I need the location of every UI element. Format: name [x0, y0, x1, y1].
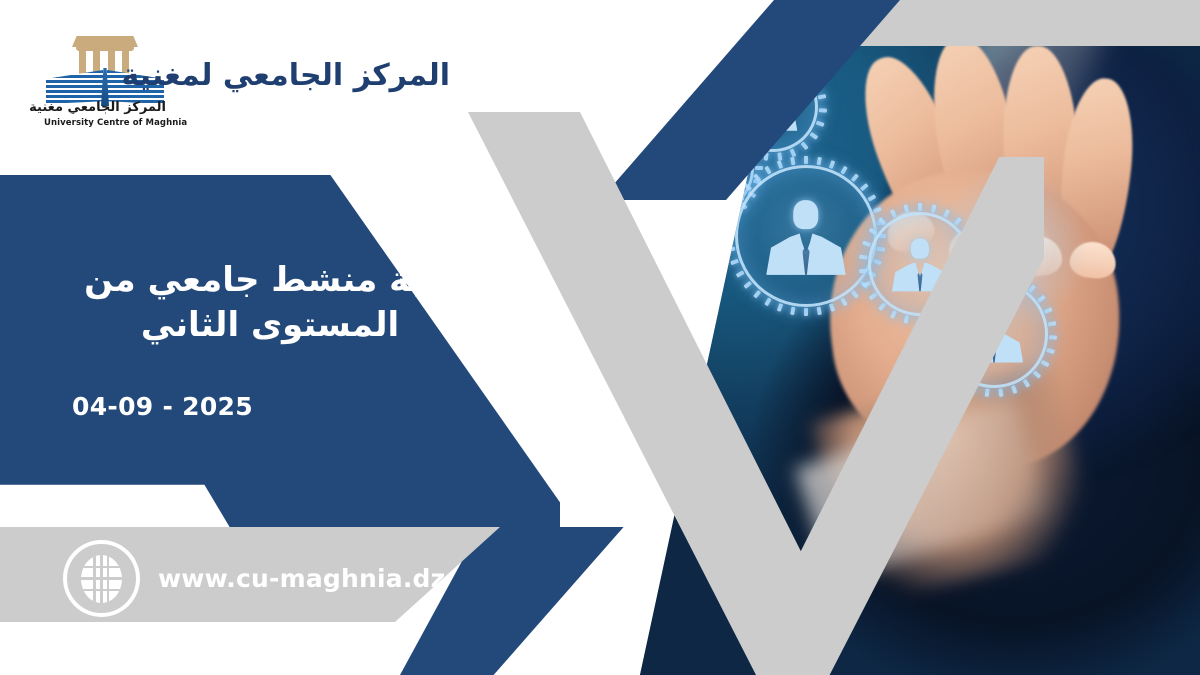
book-page-left: [46, 70, 103, 104]
website-url: www.cu-maghnia.dz: [158, 564, 445, 593]
logo-arabic-script: المركز الجامعي مغنية: [44, 100, 166, 115]
globe-graphic: [81, 555, 122, 603]
person-body: [766, 234, 846, 275]
website-row: www.cu-maghnia.dz: [63, 540, 445, 617]
event-date: 04-09 - 2025: [72, 392, 253, 421]
announcement-headline: رتبة منشط جامعي من المستوى الثاني: [60, 258, 480, 348]
event-banner: المركز الجامعي مغنية University Centre o…: [0, 0, 1200, 675]
globe-icon: [63, 540, 140, 617]
navy-headline-panel: [0, 175, 560, 527]
organization-title: المركز الجامعي لمغنية: [121, 58, 450, 93]
person-head: [793, 200, 818, 229]
person-head: [911, 239, 929, 259]
globe-gridlines: [81, 555, 122, 603]
gear-person-icon: [735, 165, 877, 307]
person-tie: [802, 245, 809, 275]
person-tie: [917, 270, 922, 291]
logo-latin-name: University Centre of Maghnia: [44, 118, 166, 128]
person-silhouette-icon: [766, 200, 846, 275]
